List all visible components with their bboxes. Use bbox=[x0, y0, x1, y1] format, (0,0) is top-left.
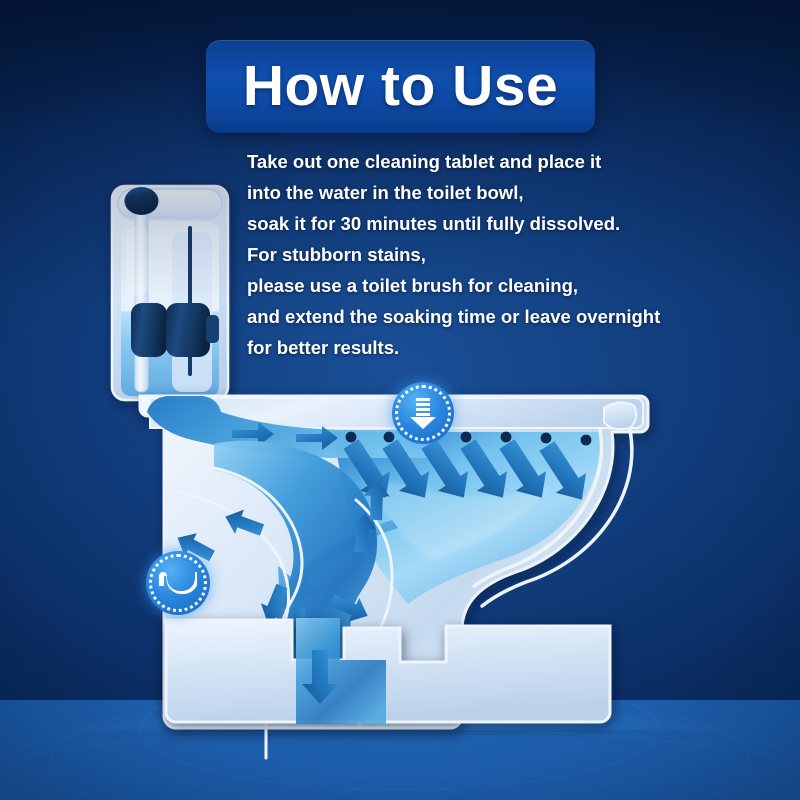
instruction-line: please use a toilet brush for cleaning, bbox=[247, 270, 717, 301]
instruction-line: Take out one cleaning tablet and place i… bbox=[247, 146, 717, 177]
instruction-line: for better results. bbox=[247, 332, 717, 363]
rim-hole bbox=[384, 432, 395, 443]
page-title: How to Use bbox=[243, 58, 558, 115]
badge-dotted-ring bbox=[149, 554, 207, 612]
instruction-line: into the water in the toilet bowl, bbox=[247, 177, 717, 208]
instructions-block: Take out one cleaning tablet and place i… bbox=[247, 146, 717, 363]
badge-siphon-trap[interactable] bbox=[146, 551, 210, 615]
rim-hole bbox=[346, 432, 357, 443]
rim-cut-notch bbox=[604, 402, 636, 429]
rim-hole bbox=[501, 432, 512, 443]
instruction-line: soak it for 30 minutes until fully disso… bbox=[247, 208, 717, 239]
rim-hole bbox=[461, 432, 472, 443]
title-banner: How to Use bbox=[206, 40, 595, 133]
pedestal bbox=[166, 618, 610, 724]
rim-hole bbox=[541, 433, 552, 444]
flush-valve-body bbox=[166, 303, 210, 357]
fill-valve-body bbox=[131, 303, 167, 357]
tank-highlight bbox=[126, 226, 148, 296]
instruction-line: For stubborn stains, bbox=[247, 239, 717, 270]
fill-valve-cap bbox=[125, 187, 159, 215]
tank bbox=[112, 186, 228, 400]
rim-hole bbox=[581, 435, 592, 446]
instruction-line: and extend the soaking time or leave ove… bbox=[247, 301, 717, 332]
flush-valve-outlet bbox=[206, 315, 219, 343]
pedestal-shell bbox=[166, 620, 610, 722]
infographic-poster: How to Use Take out one cleaning tablet … bbox=[0, 0, 800, 800]
badge-water-inlet[interactable] bbox=[392, 382, 454, 444]
badge-dotted-ring bbox=[395, 385, 451, 441]
